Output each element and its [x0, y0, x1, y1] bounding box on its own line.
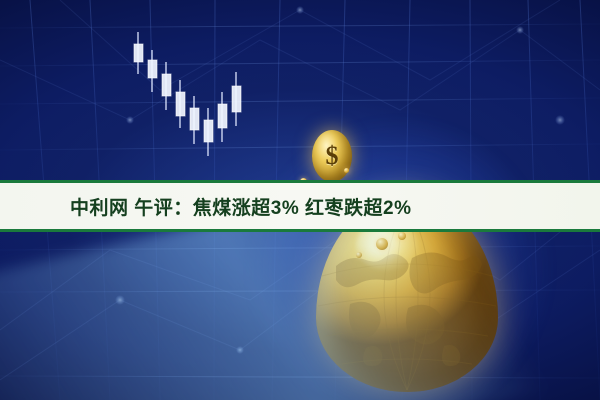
- headline-band: 中利网 午评：焦煤涨超3% 红枣跌超2%: [0, 180, 600, 232]
- gold-fleck: [376, 238, 388, 250]
- image-canvas: $ 中利网 午评：焦煤涨超3% 红枣跌超2%: [0, 0, 600, 400]
- gold-fleck: [398, 232, 406, 240]
- dollar-symbol: $: [326, 141, 339, 171]
- gold-fleck: [344, 168, 349, 173]
- dollar-coin-icon: $: [312, 130, 352, 182]
- headline-text: 中利网 午评：焦煤涨超3% 红枣跌超2%: [70, 193, 411, 220]
- gold-fleck: [356, 252, 362, 258]
